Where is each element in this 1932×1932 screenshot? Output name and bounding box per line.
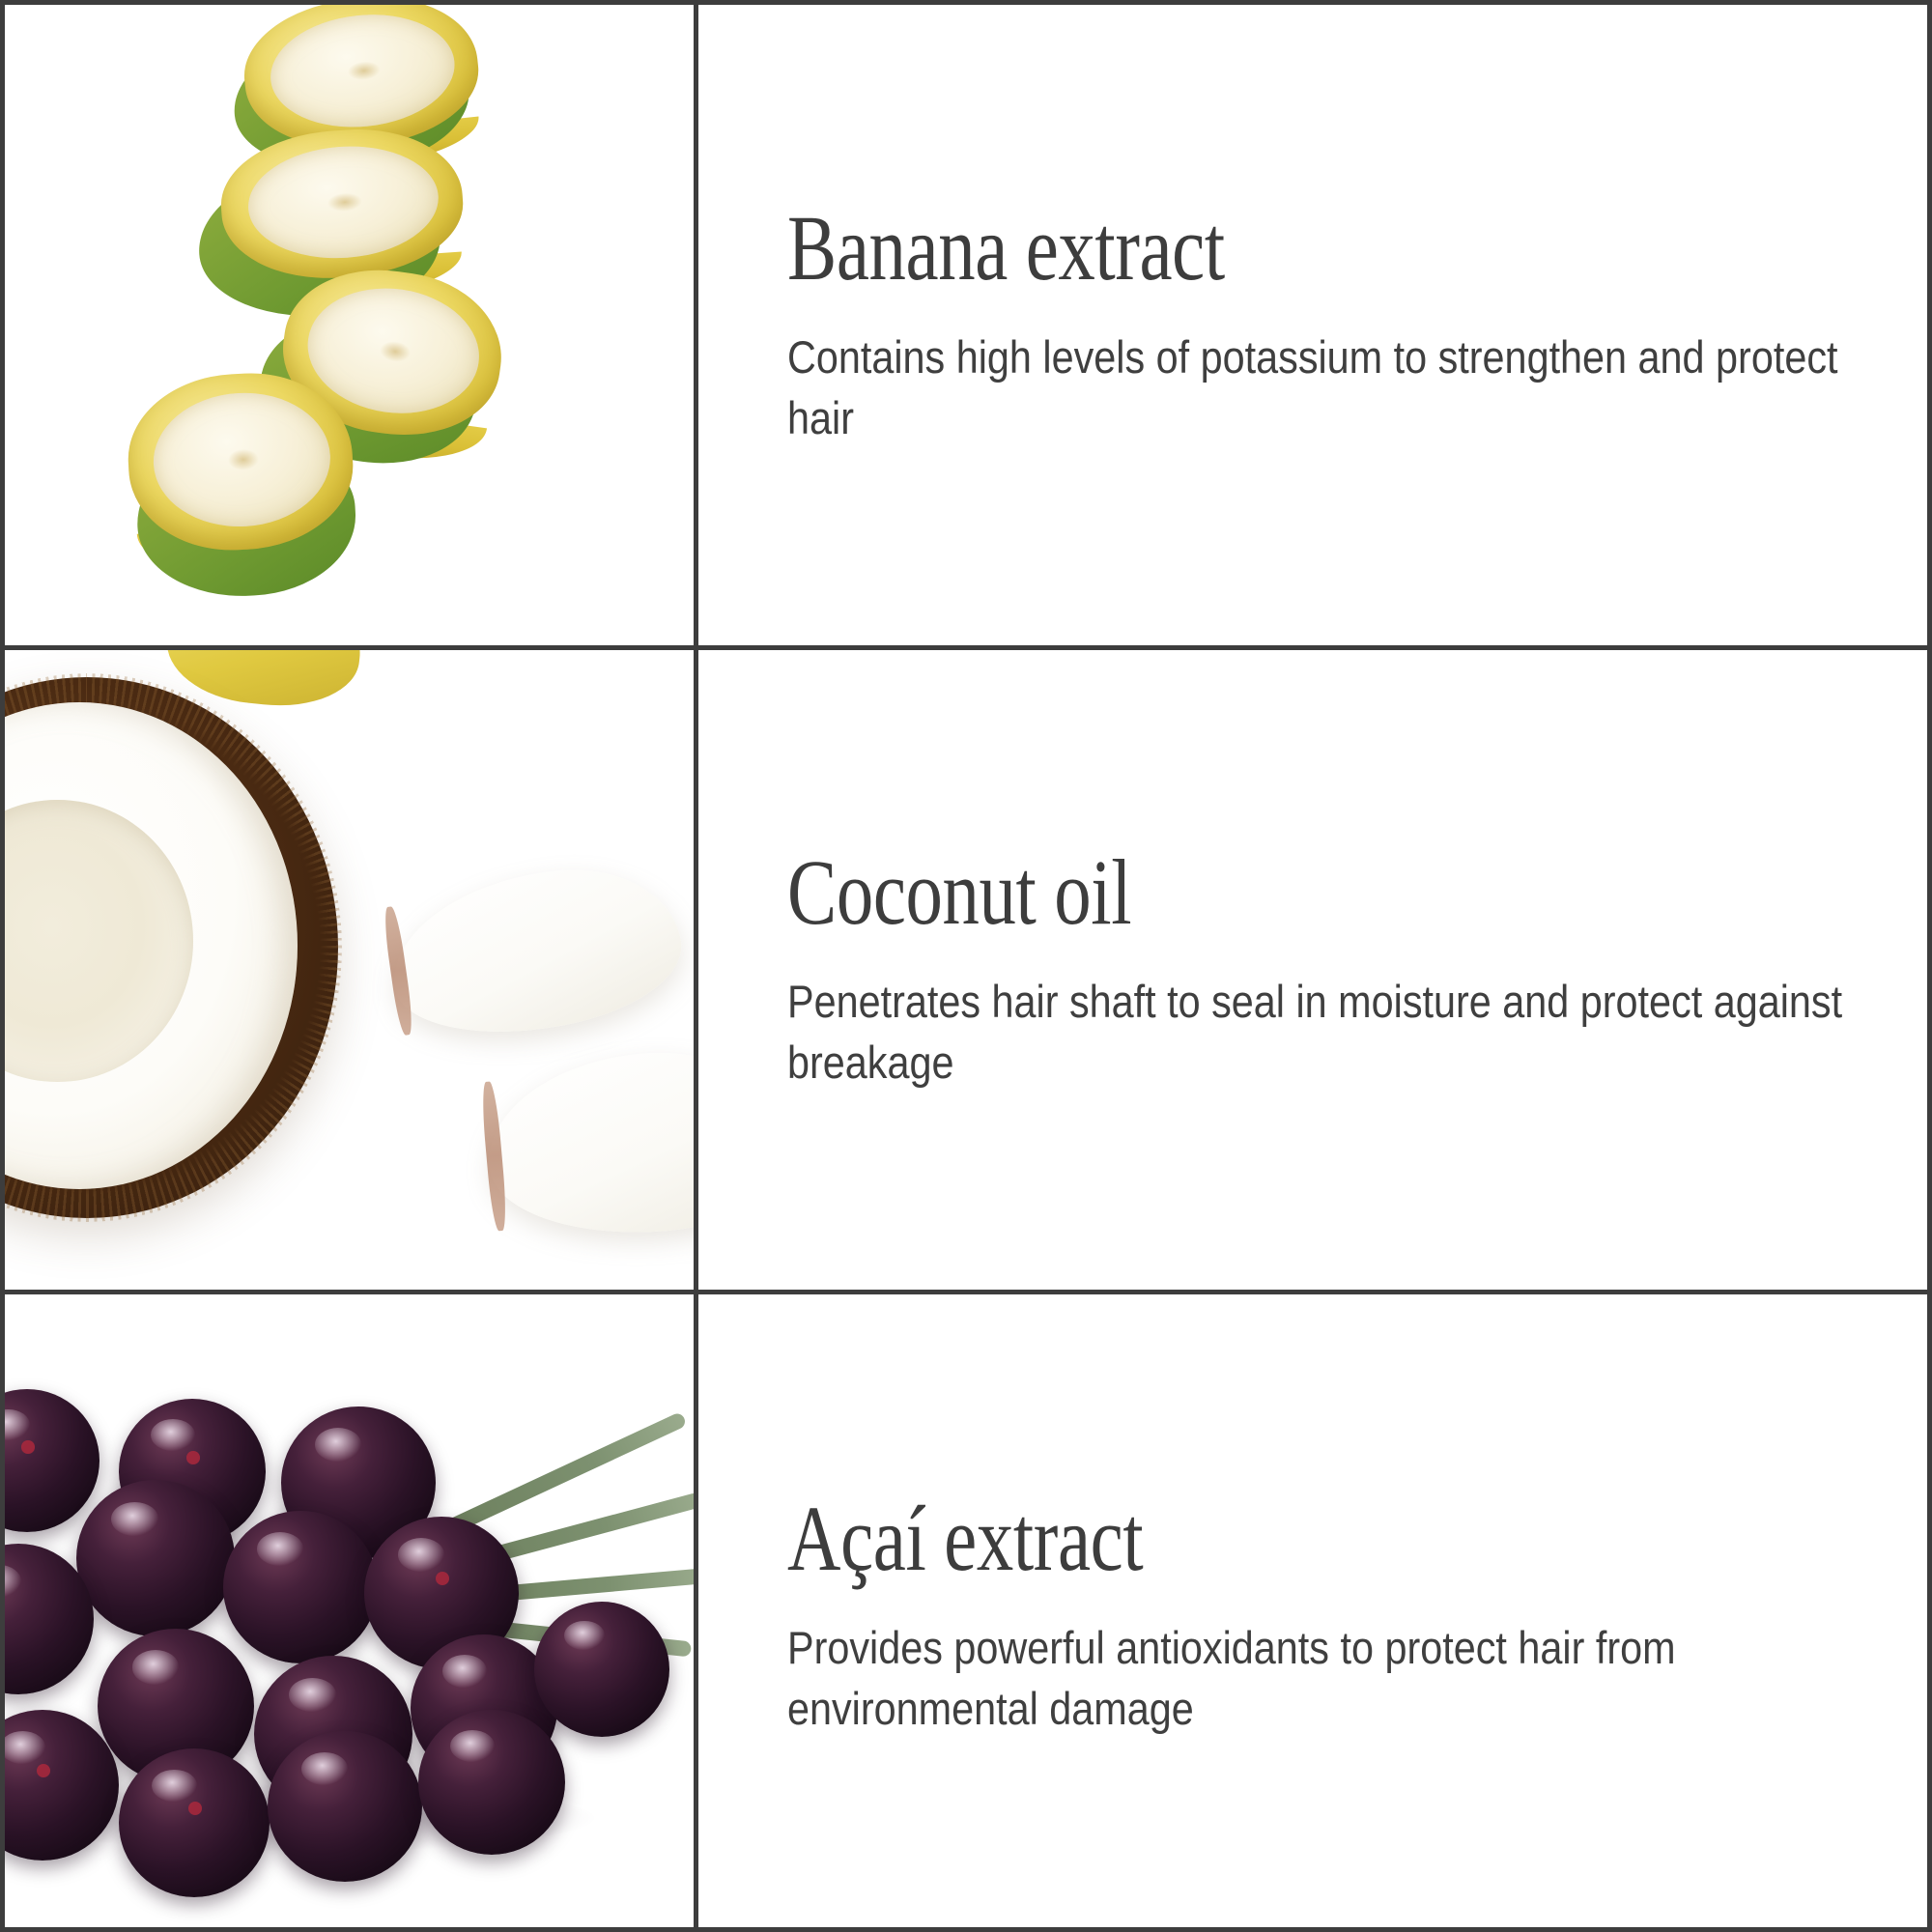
acai-berry xyxy=(534,1602,669,1737)
vertical-divider-1 xyxy=(694,5,698,645)
banana-core-3 xyxy=(379,339,412,363)
coconut-piece-rind-1 xyxy=(382,905,415,1036)
banana-slices-photo xyxy=(5,5,698,645)
ingredient-row-banana: Banana extract Contains high levels of p… xyxy=(5,5,1927,645)
banana-body-text: Contains high levels of potassium to str… xyxy=(787,327,1854,449)
banana-core-4 xyxy=(227,448,260,471)
coconut-piece-2 xyxy=(481,1040,698,1245)
ingredient-benefits-infographic: Banana extract Contains high levels of p… xyxy=(0,0,1932,1932)
acai-berries-photo xyxy=(5,1294,698,1932)
ingredient-row-coconut: Coconut oil Penetrates hair shaft to sea… xyxy=(5,650,1927,1290)
vertical-divider-3 xyxy=(694,1294,698,1932)
acai-body-text: Provides powerful antioxidants to protec… xyxy=(787,1618,1854,1740)
coconut-body-text: Penetrates hair shaft to seal in moistur… xyxy=(787,972,1854,1094)
acai-berry xyxy=(223,1511,378,1663)
ingredient-row-acai: Açaí extract Provides powerful antioxida… xyxy=(5,1294,1927,1932)
coconut-cavity xyxy=(5,800,193,1082)
vertical-divider-2 xyxy=(694,650,698,1290)
coconut-copy-block: Coconut oil Penetrates hair shaft to sea… xyxy=(698,650,1927,1290)
coconut-heading: Coconut oil xyxy=(787,846,1645,939)
banana-core-1 xyxy=(347,60,382,81)
coconut-piece-rind-2 xyxy=(480,1081,508,1232)
coconut-halves-photo xyxy=(5,650,698,1290)
banana-core-2 xyxy=(327,192,363,213)
acai-berry xyxy=(268,1731,422,1882)
acai-copy-block: Açaí extract Provides powerful antioxida… xyxy=(698,1294,1927,1932)
coconut-piece-1 xyxy=(382,855,690,1048)
banana-illustration xyxy=(5,5,698,645)
acai-heading: Açaí extract xyxy=(787,1492,1645,1585)
acai-berry xyxy=(119,1748,270,1897)
acai-berry xyxy=(5,1389,99,1532)
acai-illustration xyxy=(5,1294,698,1932)
banana-heading: Banana extract xyxy=(787,202,1645,295)
acai-berry xyxy=(76,1480,235,1636)
acai-berry xyxy=(418,1710,565,1855)
banana-copy-block: Banana extract Contains high levels of p… xyxy=(698,5,1927,645)
coconut-half xyxy=(5,677,338,1218)
coconut-illustration xyxy=(5,650,698,1290)
